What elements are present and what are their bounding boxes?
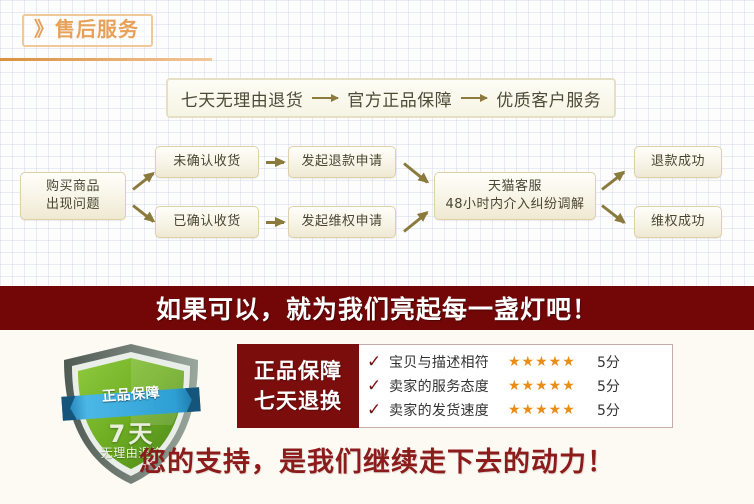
call-to-action-text: 如果可以，就为我们亮起每一盏灯吧！ [156, 290, 598, 326]
promise-item-1: 七天无理由退货 [181, 86, 304, 111]
flow-node-refund-success: 退款成功 [634, 146, 722, 178]
rating-label: 卖家的发货速度 [389, 400, 501, 420]
guarantee-line-2: 七天退换 [254, 386, 342, 416]
flow-node-rights-success: 维权成功 [634, 206, 722, 238]
star-rating-icon: ★★★★★ [508, 402, 590, 418]
arrow-right-icon [312, 97, 338, 99]
flow-node-confirmed: 已确认收货 [155, 206, 259, 238]
rating-row: ✓ 卖家的发货速度 ★★★★★ 5分 [367, 398, 666, 422]
flow-node-refund-request: 发起退款申请 [288, 146, 396, 178]
rating-score: 5分 [597, 352, 620, 372]
rating-row: ✓ 宝贝与描述相符 ★★★★★ 5分 [367, 350, 666, 374]
arrow-right-icon [266, 221, 284, 224]
flow-node-service-line1: 天猫客服 [445, 178, 584, 196]
flow-node-customer-service: 天猫客服 48小时内介入纠纷调解 [434, 172, 596, 220]
rating-score: 5分 [597, 400, 620, 420]
star-rating-icon: ★★★★★ [508, 378, 590, 394]
after-sales-flowchart: 购买商品 出现问题 未确认收货 已确认收货 发起退款申请 发起维权申请 天猫客服… [0, 130, 754, 270]
ratings-table: ✓ 宝贝与描述相符 ★★★★★ 5分 ✓ 卖家的服务态度 ★★★★★ 5分 ✓ … [359, 344, 673, 428]
rating-label: 卖家的服务态度 [389, 376, 501, 396]
guarantee-line-1: 正品保障 [254, 356, 342, 386]
flow-node-unconfirmed: 未确认收货 [155, 146, 259, 178]
check-icon: ✓ [367, 378, 382, 395]
section-header: 》售后服务 [22, 14, 153, 47]
arrow-down-right-icon [132, 204, 154, 222]
arrow-right-icon [461, 97, 487, 99]
rating-row: ✓ 卖家的服务态度 ★★★★★ 5分 [367, 374, 666, 398]
arrow-up-right-icon [403, 211, 428, 232]
arrow-down-right-icon [601, 204, 625, 224]
check-icon: ✓ [367, 402, 382, 419]
arrow-down-right-icon [403, 162, 428, 183]
rating-label: 宝贝与描述相符 [389, 352, 501, 372]
flow-node-start-line2: 出现问题 [46, 196, 100, 214]
page-root: 》售后服务 七天无理由退货 官方正品保障 优质客户服务 购买商品 出现问题 未确… [0, 0, 754, 504]
guarantee-panel: 正品保障 7天 无理由退换 正品保障 七天退换 ✓ 宝贝与描述相符 ★★★★★ … [0, 330, 754, 504]
header-divider [0, 58, 212, 61]
promise-item-3: 优质客户服务 [496, 86, 601, 111]
arrow-up-right-icon [132, 172, 154, 190]
star-rating-icon: ★★★★★ [508, 354, 590, 370]
call-to-action-banner: 如果可以，就为我们亮起每一盏灯吧！ [0, 286, 754, 330]
bottom-slogan: 您的支持，是我们继续走下去的动力！ [0, 440, 754, 479]
rating-score: 5分 [597, 376, 620, 396]
promise-strip: 七天无理由退货 官方正品保障 优质客户服务 [166, 78, 616, 118]
check-icon: ✓ [367, 354, 382, 371]
guarantee-label: 正品保障 七天退换 [237, 344, 359, 428]
flow-node-start: 购买商品 出现问题 [20, 172, 126, 220]
flow-node-service-line2: 48小时内介入纠纷调解 [445, 196, 584, 214]
arrow-right-icon [266, 161, 284, 164]
promise-item-2: 官方正品保障 [347, 86, 452, 111]
arrow-up-right-icon [601, 171, 625, 191]
flow-node-rights-request: 发起维权申请 [288, 206, 396, 238]
section-header-label: 》售后服务 [34, 19, 139, 40]
flow-node-start-line1: 购买商品 [46, 178, 100, 196]
